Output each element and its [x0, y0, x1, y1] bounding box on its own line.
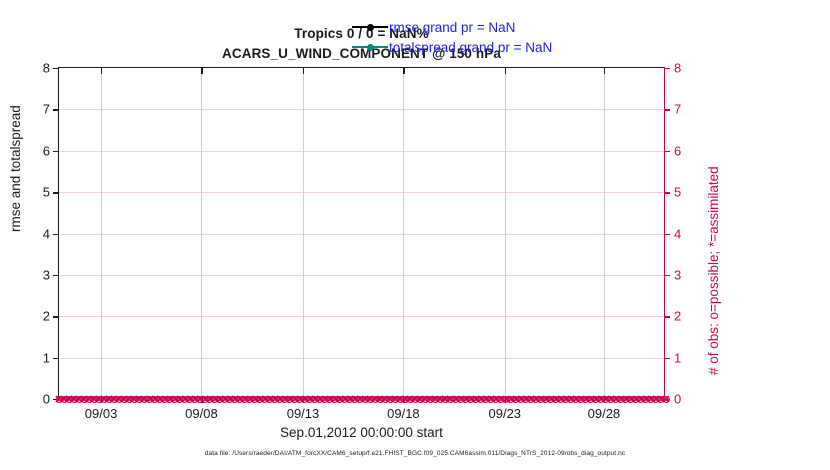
- obs-assimilated-marker: [135, 395, 143, 403]
- obs-marker-series: [59, 399, 664, 411]
- obs-possible-marker: [316, 396, 323, 403]
- obs-possible-marker: [462, 396, 469, 403]
- obs-assimilated-marker: [496, 395, 504, 403]
- obs-possible-marker: [61, 396, 68, 403]
- obs-possible-marker: [261, 396, 268, 403]
- obs-possible-marker: [66, 396, 73, 403]
- obs-assimilated-marker: [637, 395, 645, 403]
- obs-assimilated-marker: [155, 395, 163, 403]
- obs-possible-marker: [622, 396, 629, 403]
- obs-assimilated-marker: [411, 395, 419, 403]
- legend-swatch-totalspread: [352, 40, 388, 54]
- legend-swatch-rmse: [352, 20, 388, 34]
- legend-item-totalspread[interactable]: totalspread grand pr = NaN: [352, 37, 552, 57]
- obs-assimilated-marker: [522, 395, 530, 403]
- obs-assimilated-marker: [266, 395, 274, 403]
- obs-possible-marker: [472, 396, 479, 403]
- obs-possible-marker: [126, 396, 133, 403]
- obs-assimilated-marker: [476, 395, 484, 403]
- obs-assimilated-marker: [481, 395, 489, 403]
- obs-assimilated-marker: [552, 395, 560, 403]
- obs-possible-marker: [356, 396, 363, 403]
- obs-possible-marker: [191, 396, 198, 403]
- obs-assimilated-marker: [431, 395, 439, 403]
- obs-assimilated-marker: [527, 395, 535, 403]
- obs-possible-marker: [341, 396, 348, 403]
- obs-assimilated-marker: [85, 395, 93, 403]
- obs-assimilated-marker: [90, 395, 98, 403]
- obs-assimilated-marker: [441, 395, 449, 403]
- obs-possible-marker: [422, 396, 429, 403]
- obs-assimilated-marker: [336, 395, 344, 403]
- obs-assimilated-marker: [311, 395, 319, 403]
- obs-possible-marker: [246, 396, 253, 403]
- obs-assimilated-marker: [140, 395, 148, 403]
- obs-assimilated-marker: [281, 395, 289, 403]
- obs-possible-marker: [186, 396, 193, 403]
- obs-possible-marker: [271, 396, 278, 403]
- y-tick-right: [664, 151, 670, 152]
- y-tick-label-left: 7: [43, 102, 50, 117]
- y-tick-left: [53, 358, 59, 359]
- x-tick-top: [101, 68, 102, 74]
- obs-possible-marker: [121, 396, 128, 403]
- obs-possible-marker: [161, 396, 168, 403]
- obs-assimilated-marker: [80, 395, 88, 403]
- obs-possible-marker: [76, 396, 83, 403]
- x-tick-label: 09/08: [185, 406, 218, 421]
- obs-possible-marker: [537, 396, 544, 403]
- obs-assimilated-marker: [557, 395, 565, 403]
- obs-assimilated-marker: [607, 395, 615, 403]
- obs-possible-marker: [377, 396, 384, 403]
- obs-assimilated-marker: [251, 395, 259, 403]
- y-tick-right: [664, 399, 670, 400]
- gridline-horizontal: [59, 275, 664, 276]
- obs-possible-marker: [587, 396, 594, 403]
- gridline-horizontal: [59, 234, 664, 235]
- obs-assimilated-marker: [75, 395, 83, 403]
- obs-possible-marker: [567, 396, 574, 403]
- y-tick-left: [53, 316, 59, 317]
- x-tick: [604, 397, 605, 403]
- obs-assimilated-marker: [406, 395, 414, 403]
- obs-assimilated-marker: [632, 395, 640, 403]
- obs-assimilated-marker: [276, 395, 284, 403]
- obs-possible-marker: [517, 396, 524, 403]
- x-axis-title: Sep.01,2012 00:00:00 start: [58, 425, 665, 440]
- obs-possible-marker: [527, 396, 534, 403]
- obs-possible-marker: [346, 396, 353, 403]
- obs-possible-marker: [141, 396, 148, 403]
- obs-assimilated-marker: [506, 395, 514, 403]
- obs-assimilated-marker: [145, 395, 153, 403]
- obs-assimilated-marker: [60, 395, 68, 403]
- obs-assimilated-marker: [572, 395, 580, 403]
- obs-possible-marker: [592, 396, 599, 403]
- y-axis-left-title: rmse and totalspread: [8, 105, 23, 232]
- obs-assimilated-marker: [256, 395, 264, 403]
- y-tick-label-left: 1: [43, 350, 50, 365]
- y-tick-right: [664, 109, 670, 110]
- y-tick-right: [664, 192, 670, 193]
- y-tick-right: [664, 68, 670, 69]
- obs-possible-marker: [331, 396, 338, 403]
- obs-assimilated-marker: [130, 395, 138, 403]
- obs-assimilated-marker: [301, 395, 309, 403]
- obs-assimilated-marker: [165, 395, 173, 403]
- y-tick-left: [53, 275, 59, 276]
- obs-assimilated-marker: [587, 395, 595, 403]
- obs-possible-marker: [116, 396, 123, 403]
- x-tick: [303, 397, 304, 403]
- obs-assimilated-marker: [381, 395, 389, 403]
- obs-possible-marker: [136, 396, 143, 403]
- obs-assimilated-marker: [416, 395, 424, 403]
- y-tick-label-right: 1: [674, 350, 681, 365]
- obs-possible-marker: [522, 396, 529, 403]
- x-tick-label: 09/13: [287, 406, 320, 421]
- x-tick-top: [303, 68, 304, 74]
- y-tick-label-left: 2: [43, 309, 50, 324]
- obs-possible-marker: [211, 396, 218, 403]
- obs-possible-marker: [447, 396, 454, 403]
- obs-possible-marker: [512, 396, 519, 403]
- obs-assimilated-marker: [622, 395, 630, 403]
- obs-assimilated-marker: [331, 395, 339, 403]
- obs-possible-marker: [612, 396, 619, 403]
- obs-possible-marker: [216, 396, 223, 403]
- obs-possible-marker: [647, 396, 654, 403]
- obs-assimilated-marker: [486, 395, 494, 403]
- obs-possible-marker: [557, 396, 564, 403]
- x-tick-label: 09/23: [488, 406, 521, 421]
- obs-assimilated-marker: [512, 395, 520, 403]
- obs-possible-marker: [156, 396, 163, 403]
- y-tick-label-right: 4: [674, 226, 681, 241]
- y-tick-right: [664, 275, 670, 276]
- obs-possible-marker: [151, 396, 158, 403]
- obs-possible-marker: [351, 396, 358, 403]
- obs-possible-marker: [71, 396, 78, 403]
- x-tick-top: [604, 68, 605, 74]
- obs-assimilated-marker: [120, 395, 128, 403]
- obs-possible-marker: [542, 396, 549, 403]
- obs-assimilated-marker: [386, 395, 394, 403]
- obs-possible-marker: [81, 396, 88, 403]
- obs-assimilated-marker: [491, 395, 499, 403]
- obs-assimilated-marker: [537, 395, 545, 403]
- y-tick-left: [53, 68, 59, 69]
- obs-assimilated-marker: [70, 395, 78, 403]
- y-tick-label-left: 8: [43, 61, 50, 76]
- obs-possible-marker: [532, 396, 539, 403]
- obs-assimilated-marker: [421, 395, 429, 403]
- y-tick-left: [53, 234, 59, 235]
- obs-possible-marker: [86, 396, 93, 403]
- obs-assimilated-marker: [115, 395, 123, 403]
- legend-label-totalspread: totalspread grand pr = NaN: [389, 40, 552, 55]
- obs-assimilated-marker: [326, 395, 334, 403]
- obs-possible-marker: [487, 396, 494, 403]
- y-tick-label-left: 4: [43, 226, 50, 241]
- obs-assimilated-marker: [391, 395, 399, 403]
- x-tick-top: [505, 68, 506, 74]
- obs-assimilated-marker: [306, 395, 314, 403]
- obs-assimilated-marker: [346, 395, 354, 403]
- obs-possible-marker: [176, 396, 183, 403]
- y-tick-label-right: 2: [674, 309, 681, 324]
- obs-possible-marker: [477, 396, 484, 403]
- obs-possible-marker: [171, 396, 178, 403]
- obs-possible-marker: [392, 396, 399, 403]
- obs-assimilated-marker: [271, 395, 279, 403]
- x-tick-label: 09/18: [387, 406, 420, 421]
- y-tick-label-left: 6: [43, 143, 50, 158]
- obs-possible-marker: [362, 396, 369, 403]
- obs-possible-marker: [91, 396, 98, 403]
- obs-possible-marker: [652, 396, 659, 403]
- obs-possible-marker: [231, 396, 238, 403]
- y-tick-left: [53, 192, 59, 193]
- chart-legend: rmse grand pr = NaN totalspread grand pr…: [352, 17, 552, 57]
- obs-assimilated-marker: [436, 395, 444, 403]
- obs-possible-marker: [221, 396, 228, 403]
- obs-possible-marker: [226, 396, 233, 403]
- obs-assimilated-marker: [261, 395, 269, 403]
- obs-possible-marker: [372, 396, 379, 403]
- obs-assimilated-marker: [105, 395, 113, 403]
- y-tick-left: [53, 399, 59, 400]
- obs-possible-marker: [206, 396, 213, 403]
- obs-possible-marker: [617, 396, 624, 403]
- obs-assimilated-marker: [451, 395, 459, 403]
- obs-assimilated-marker: [582, 395, 590, 403]
- y-tick-label-left: 3: [43, 267, 50, 282]
- y-tick-right: [664, 316, 670, 317]
- obs-assimilated-marker: [341, 395, 349, 403]
- gridline-vertical: [101, 68, 102, 397]
- y-tick-right: [664, 234, 670, 235]
- obs-possible-marker: [492, 396, 499, 403]
- obs-assimilated-marker: [361, 395, 369, 403]
- obs-assimilated-marker: [150, 395, 158, 403]
- y-tick-label-right: 6: [674, 143, 681, 158]
- obs-possible-marker: [387, 396, 394, 403]
- x-tick: [201, 397, 202, 403]
- obs-possible-marker: [417, 396, 424, 403]
- obs-assimilated-marker: [426, 395, 434, 403]
- obs-possible-marker: [166, 396, 173, 403]
- obs-possible-marker: [432, 396, 439, 403]
- gridline-vertical: [403, 68, 404, 397]
- obs-assimilated-marker: [246, 395, 254, 403]
- obs-assimilated-marker: [471, 395, 479, 403]
- obs-possible-marker: [412, 396, 419, 403]
- obs-possible-marker: [572, 396, 579, 403]
- obs-assimilated-marker: [170, 395, 178, 403]
- obs-possible-marker: [547, 396, 554, 403]
- obs-possible-marker: [241, 396, 248, 403]
- obs-assimilated-marker: [612, 395, 620, 403]
- obs-assimilated-marker: [160, 395, 168, 403]
- obs-possible-marker: [562, 396, 569, 403]
- gridline-horizontal: [59, 192, 664, 193]
- obs-possible-marker: [146, 396, 153, 403]
- obs-assimilated-marker: [125, 395, 133, 403]
- data-file-caption: data file: /Users/raeder/DAI/ATM_forcXX/…: [0, 450, 830, 457]
- obs-assimilated-marker: [547, 395, 555, 403]
- obs-assimilated-marker: [562, 395, 570, 403]
- obs-assimilated-marker: [577, 395, 585, 403]
- x-tick-label: 09/03: [85, 406, 118, 421]
- obs-assimilated-marker: [216, 395, 224, 403]
- obs-assimilated-marker: [446, 395, 454, 403]
- x-tick-label: 09/28: [588, 406, 621, 421]
- obs-assimilated-marker: [185, 395, 193, 403]
- obs-assimilated-marker: [366, 395, 374, 403]
- obs-possible-marker: [482, 396, 489, 403]
- x-tick: [403, 397, 404, 403]
- y-tick-label-left: 0: [43, 392, 50, 407]
- y-tick-label-right: 3: [674, 267, 681, 282]
- x-tick: [101, 397, 102, 403]
- obs-possible-marker: [642, 396, 649, 403]
- obs-possible-marker: [577, 396, 584, 403]
- y-axis-right-title: # of obs: o=possible; *=assimilated: [706, 166, 721, 375]
- obs-possible-marker: [442, 396, 449, 403]
- obs-assimilated-marker: [175, 395, 183, 403]
- obs-possible-marker: [326, 396, 333, 403]
- obs-assimilated-marker: [286, 395, 294, 403]
- obs-assimilated-marker: [221, 395, 229, 403]
- y-tick-label-right: 7: [674, 102, 681, 117]
- obs-possible-marker: [552, 396, 559, 403]
- obs-assimilated-marker: [617, 395, 625, 403]
- obs-possible-marker: [131, 396, 138, 403]
- obs-possible-marker: [607, 396, 614, 403]
- obs-possible-marker: [437, 396, 444, 403]
- obs-assimilated-marker: [461, 395, 469, 403]
- gridline-horizontal: [59, 109, 664, 110]
- obs-assimilated-marker: [180, 395, 188, 403]
- gridline-vertical: [604, 68, 605, 397]
- obs-assimilated-marker: [627, 395, 635, 403]
- y-tick-left: [53, 109, 59, 110]
- y-tick-label-left: 5: [43, 185, 50, 200]
- obs-possible-marker: [407, 396, 414, 403]
- obs-possible-marker: [497, 396, 504, 403]
- obs-possible-marker: [627, 396, 634, 403]
- obs-possible-marker: [281, 396, 288, 403]
- obs-possible-marker: [367, 396, 374, 403]
- y-tick-label-right: 0: [674, 392, 681, 407]
- obs-possible-marker: [251, 396, 258, 403]
- obs-possible-marker: [306, 396, 313, 403]
- obs-possible-marker: [457, 396, 464, 403]
- x-tick: [505, 397, 506, 403]
- obs-possible-marker: [637, 396, 644, 403]
- plot-area: 012345678 012345678 09/0309/0809/1309/18…: [58, 67, 665, 398]
- legend-label-rmse: rmse grand pr = NaN: [389, 20, 515, 35]
- obs-assimilated-marker: [226, 395, 234, 403]
- obs-assimilated-marker: [211, 395, 219, 403]
- obs-assimilated-marker: [376, 395, 384, 403]
- y-tick-right: [664, 358, 670, 359]
- obs-assimilated-marker: [236, 395, 244, 403]
- obs-possible-marker: [181, 396, 188, 403]
- obs-possible-marker: [276, 396, 283, 403]
- gridline-vertical: [505, 68, 506, 397]
- obs-possible-marker: [336, 396, 343, 403]
- gridline-vertical: [201, 68, 202, 397]
- legend-item-rmse[interactable]: rmse grand pr = NaN: [352, 17, 552, 37]
- obs-assimilated-marker: [592, 395, 600, 403]
- obs-possible-marker: [311, 396, 318, 403]
- y-tick-label-right: 5: [674, 185, 681, 200]
- obs-possible-marker: [256, 396, 263, 403]
- obs-assimilated-marker: [517, 395, 525, 403]
- obs-possible-marker: [452, 396, 459, 403]
- obs-assimilated-marker: [231, 395, 239, 403]
- obs-assimilated-marker: [316, 395, 324, 403]
- x-tick-top: [403, 68, 404, 74]
- obs-possible-marker: [106, 396, 113, 403]
- obs-assimilated-marker: [652, 395, 660, 403]
- obs-assimilated-marker: [351, 395, 359, 403]
- obs-assimilated-marker: [401, 395, 409, 403]
- obs-assimilated-marker: [542, 395, 550, 403]
- obs-assimilated-marker: [241, 395, 249, 403]
- gridline-horizontal: [59, 151, 664, 152]
- obs-assimilated-marker: [291, 395, 299, 403]
- obs-possible-marker: [507, 396, 514, 403]
- obs-possible-marker: [582, 396, 589, 403]
- obs-possible-marker: [286, 396, 293, 403]
- obs-assimilated-marker: [647, 395, 655, 403]
- gridline-horizontal: [59, 316, 664, 317]
- obs-assimilated-marker: [466, 395, 474, 403]
- gridline-horizontal: [59, 358, 664, 359]
- obs-assimilated-marker: [456, 395, 464, 403]
- obs-assimilated-marker: [190, 395, 198, 403]
- obs-assimilated-marker: [205, 395, 213, 403]
- obs-assimilated-marker: [65, 395, 73, 403]
- obs-assimilated-marker: [642, 395, 650, 403]
- obs-assimilated-marker: [356, 395, 364, 403]
- y-tick-label-right: 8: [674, 61, 681, 76]
- y-tick-left: [53, 151, 59, 152]
- obs-possible-marker: [111, 396, 118, 403]
- obs-assimilated-marker: [371, 395, 379, 403]
- obs-possible-marker: [427, 396, 434, 403]
- obs-possible-marker: [266, 396, 273, 403]
- obs-assimilated-marker: [567, 395, 575, 403]
- obs-possible-marker: [291, 396, 298, 403]
- gridline-vertical: [303, 68, 304, 397]
- obs-possible-marker: [632, 396, 639, 403]
- obs-possible-marker: [236, 396, 243, 403]
- x-tick-top: [201, 68, 202, 74]
- figure-canvas: Tropics 0 / 0 = NaN% ACARS_U_WIND_COMPON…: [0, 0, 830, 470]
- obs-possible-marker: [467, 396, 474, 403]
- obs-assimilated-marker: [532, 395, 540, 403]
- obs-possible-marker: [321, 396, 328, 403]
- obs-possible-marker: [382, 396, 389, 403]
- obs-assimilated-marker: [321, 395, 329, 403]
- obs-assimilated-marker: [110, 395, 118, 403]
